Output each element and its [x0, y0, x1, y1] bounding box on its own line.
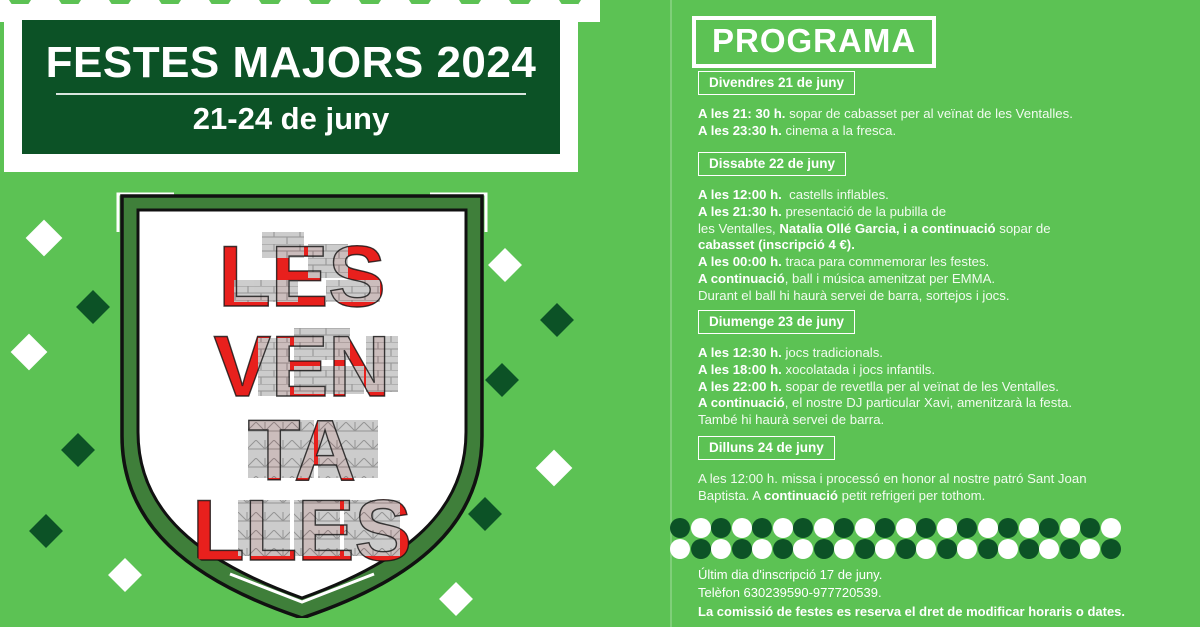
day-event-lines: A les 21: 30 h. sopar de cabasset per al…	[698, 106, 1128, 140]
page-title: FESTES MAJORS 2024	[46, 41, 537, 85]
day-event-lines: A les 12:00 h. missa i processó en honor…	[698, 471, 1128, 505]
pattern-dot	[998, 518, 1018, 538]
svg-text:VEN: VEN	[214, 319, 391, 415]
pattern-dot	[937, 518, 957, 538]
logo-line-outline: LES VEN TA LLES	[192, 229, 412, 579]
pattern-dot	[711, 518, 731, 538]
pattern-dot	[1019, 518, 1039, 538]
pattern-dot	[1039, 518, 1059, 538]
day-event-lines: A les 12:30 h. jocs tradicionals.A les 1…	[698, 345, 1128, 429]
pattern-dot	[814, 518, 834, 538]
pattern-dot	[711, 539, 731, 559]
event-line: A les 00:00 h. traca para commemorar les…	[698, 254, 1128, 271]
pattern-dot	[875, 518, 895, 538]
event-line: Baptista. A continuació petit refrigeri …	[698, 488, 1128, 505]
footer-line: Telèfon 630239590-977720539.	[698, 584, 1168, 602]
festival-poster: FESTES MAJORS 2024 21-24 de juny	[0, 0, 1200, 627]
program-day-block: Dilluns 24 de junyA les 12:00 h. missa i…	[698, 436, 1128, 505]
pattern-dot	[1060, 518, 1080, 538]
pattern-dot	[855, 539, 875, 559]
program-day-block: Divendres 21 de junyA les 21: 30 h. sopa…	[698, 71, 1128, 140]
day-label-chip: Dissabte 22 de juny	[698, 152, 846, 176]
pattern-dot	[1101, 518, 1121, 538]
pattern-dot	[937, 539, 957, 559]
programa-heading-box: PROGRAMA	[692, 16, 936, 68]
pattern-dot	[670, 518, 690, 538]
day-label-chip: Divendres 21 de juny	[698, 71, 855, 95]
footer-notes: Últim dia d'inscripció 17 de juny.Telèfo…	[698, 566, 1168, 621]
pattern-dot	[957, 539, 977, 559]
program-day-block: Diumenge 23 de junyA les 12:30 h. jocs t…	[698, 310, 1128, 429]
pattern-dot	[1101, 539, 1121, 559]
pattern-dot	[793, 518, 813, 538]
pattern-dot	[691, 518, 711, 538]
pattern-dot	[752, 518, 772, 538]
pattern-dot	[834, 539, 854, 559]
pattern-dot	[732, 539, 752, 559]
svg-text:LLES: LLES	[192, 483, 412, 579]
event-line: A les 12:00 h. missa i processó en honor…	[698, 471, 1128, 488]
footer-line: Últim dia d'inscripció 17 de juny.	[698, 566, 1168, 584]
pattern-dot	[875, 539, 895, 559]
event-line: A les 21: 30 h. sopar de cabasset per al…	[698, 106, 1128, 123]
day-label-chip: Dilluns 24 de juny	[698, 436, 835, 460]
event-line: A les 18:00 h. xocolatada i jocs infanti…	[698, 362, 1128, 379]
pattern-dot	[916, 539, 936, 559]
event-line: les Ventalles, Natalia Ollé Garcia, i a …	[698, 221, 1128, 238]
pattern-dot	[957, 518, 977, 538]
pattern-dot	[916, 518, 936, 538]
dot-pattern-strip	[670, 518, 1122, 562]
shield-svg: LES VEN TA LLES	[112, 188, 492, 618]
event-line: A les 22:00 h. sopar de revetlla per al …	[698, 379, 1128, 396]
pattern-dot	[773, 518, 793, 538]
pattern-dot	[691, 539, 711, 559]
event-line: A les 12:30 h. jocs tradicionals.	[698, 345, 1128, 362]
header-title-box: FESTES MAJORS 2024 21-24 de juny	[4, 4, 578, 172]
event-line: Durant el ball hi haurà servei de barra,…	[698, 288, 1128, 305]
programa-heading: PROGRAMA	[712, 23, 916, 59]
pattern-dot	[978, 539, 998, 559]
footer-line: La comissió de festes es reserva el dret…	[698, 603, 1168, 621]
event-line: cabasset (inscripció 4 €).	[698, 237, 1128, 254]
event-line: A les 23:30 h. cinema a la fresca.	[698, 123, 1128, 140]
event-line: També hi haurà servei de barra.	[698, 412, 1128, 429]
program-day-block: Dissabte 22 de junyA les 12:00 h. castel…	[698, 152, 1128, 304]
pattern-dot	[998, 539, 1018, 559]
pattern-dot	[732, 518, 752, 538]
pattern-dot	[896, 518, 916, 538]
header-title-inner: FESTES MAJORS 2024 21-24 de juny	[22, 20, 560, 154]
pattern-dot	[752, 539, 772, 559]
event-line: A continuació, ball i música amenitzat p…	[698, 271, 1128, 288]
pattern-dot	[1060, 539, 1080, 559]
shield-emblem: LES VEN TA LLES	[112, 188, 492, 618]
event-line: A les 12:00 h. castells inflables.	[698, 187, 1128, 204]
day-label-chip: Diumenge 23 de juny	[698, 310, 855, 334]
event-line: A les 21:30 h. presentació de la pubilla…	[698, 204, 1128, 221]
pattern-dot	[793, 539, 813, 559]
pattern-dot	[978, 518, 998, 538]
svg-text:LES: LES	[218, 229, 385, 325]
day-event-lines: A les 12:00 h. castells inflables.A les …	[698, 187, 1128, 304]
pattern-dot	[1080, 518, 1100, 538]
pattern-dot	[855, 518, 875, 538]
event-line: A continuació, el nostre DJ particular X…	[698, 395, 1128, 412]
pattern-dot	[1019, 539, 1039, 559]
title-divider-rule	[56, 93, 526, 95]
page-subtitle: 21-24 de juny	[193, 103, 389, 134]
pattern-dot	[773, 539, 793, 559]
pattern-dot	[1080, 539, 1100, 559]
pattern-dot	[814, 539, 834, 559]
pattern-dot	[1039, 539, 1059, 559]
pattern-dot	[896, 539, 916, 559]
pattern-dot	[834, 518, 854, 538]
shield-lettering: LES VEN TA LLES	[192, 229, 412, 579]
pattern-dot	[670, 539, 690, 559]
